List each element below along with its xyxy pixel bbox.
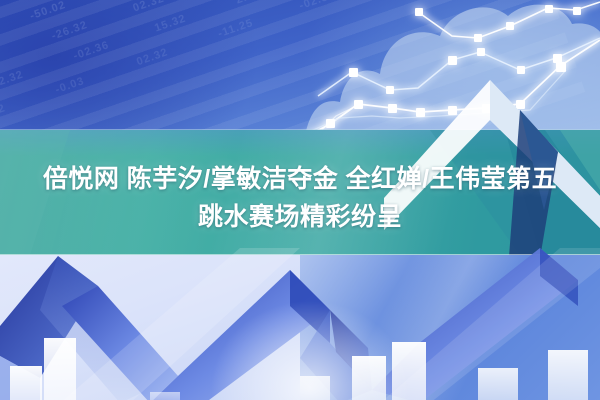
page-title: 倍悦网 陈芋汐/掌敏洁夺金 全红婵/王伟莹第五 跳水赛场精彩纷呈 [0,160,600,236]
headline-line-1: 倍悦网 陈芋汐/掌敏洁夺金 全红婵/王伟莹第五 [0,160,600,198]
bottom-center-glow [210,300,410,400]
cover-image: -09.02-02.3521.02-08.3645.02-08.35-11.25… [0,0,600,400]
headline-line-2: 跳水赛场精彩纷呈 [0,198,600,236]
